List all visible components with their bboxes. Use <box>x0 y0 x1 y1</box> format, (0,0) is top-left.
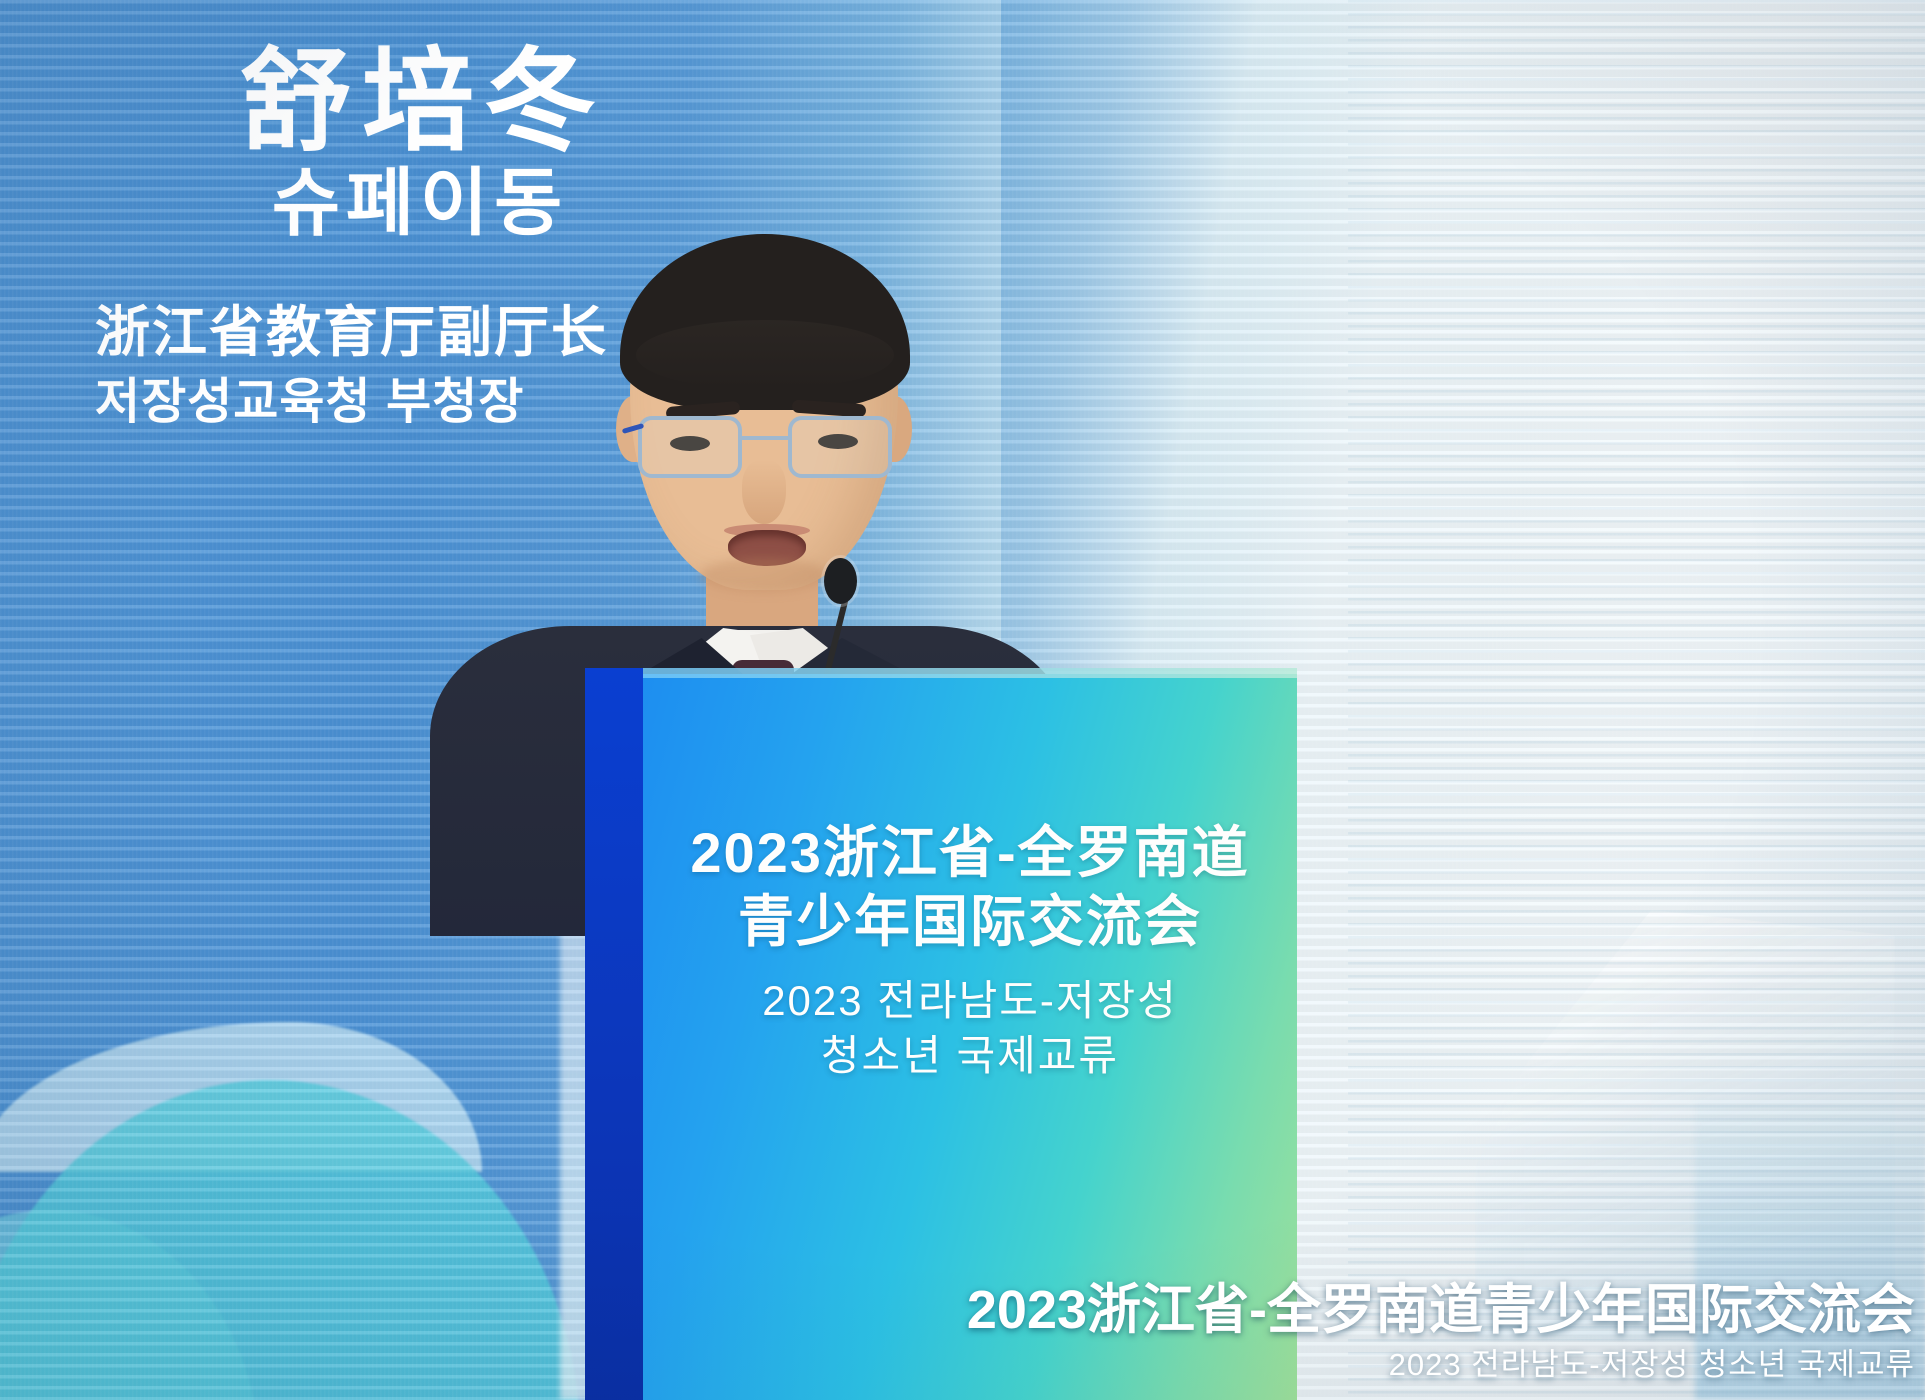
podium-top-edge <box>643 668 1297 678</box>
glasses-bridge <box>742 436 788 440</box>
overlay-banner-chinese: 2023浙江省-全罗南道青少年国际交流会 <box>967 1281 1915 1340</box>
glasses-lens-right <box>788 416 892 478</box>
podium-title-korean-line1: 2023 전라남도-저장성 <box>643 973 1297 1028</box>
photo-stage: 舒培冬 슈페이동 浙江省教育厅副厅长 저장성교육청 부청장 <box>0 0 1925 1400</box>
podium-event-title-block: 2023浙江省-全罗南道 青少年国际交流会 2023 전라남도-저장성 청소년 … <box>643 818 1297 1084</box>
overlay-banner-korean: 2023 전라남도-저장성 청소년 국제교류 <box>967 1344 1915 1386</box>
broadcast-overlay-banner: 2023浙江省-全罗南道青少年国际交流会 2023 전라남도-저장성 청소년 국… <box>967 1281 1915 1386</box>
microphone-icon <box>824 558 857 604</box>
podium-title-chinese-line2: 青少年国际交流会 <box>643 887 1297 956</box>
podium-side-panel <box>585 668 643 1400</box>
podium-title-korean-line2: 청소년 국제교류 <box>643 1028 1297 1083</box>
speaker-chin-shadow <box>700 558 828 592</box>
glasses-lens-left <box>638 416 742 478</box>
speaker-name-chinese: 舒培冬 <box>95 42 715 163</box>
glasses-icon <box>638 410 892 486</box>
podium-title-chinese-line1: 2023浙江省-全罗南道 <box>643 818 1297 887</box>
speaker-hair <box>620 234 910 410</box>
